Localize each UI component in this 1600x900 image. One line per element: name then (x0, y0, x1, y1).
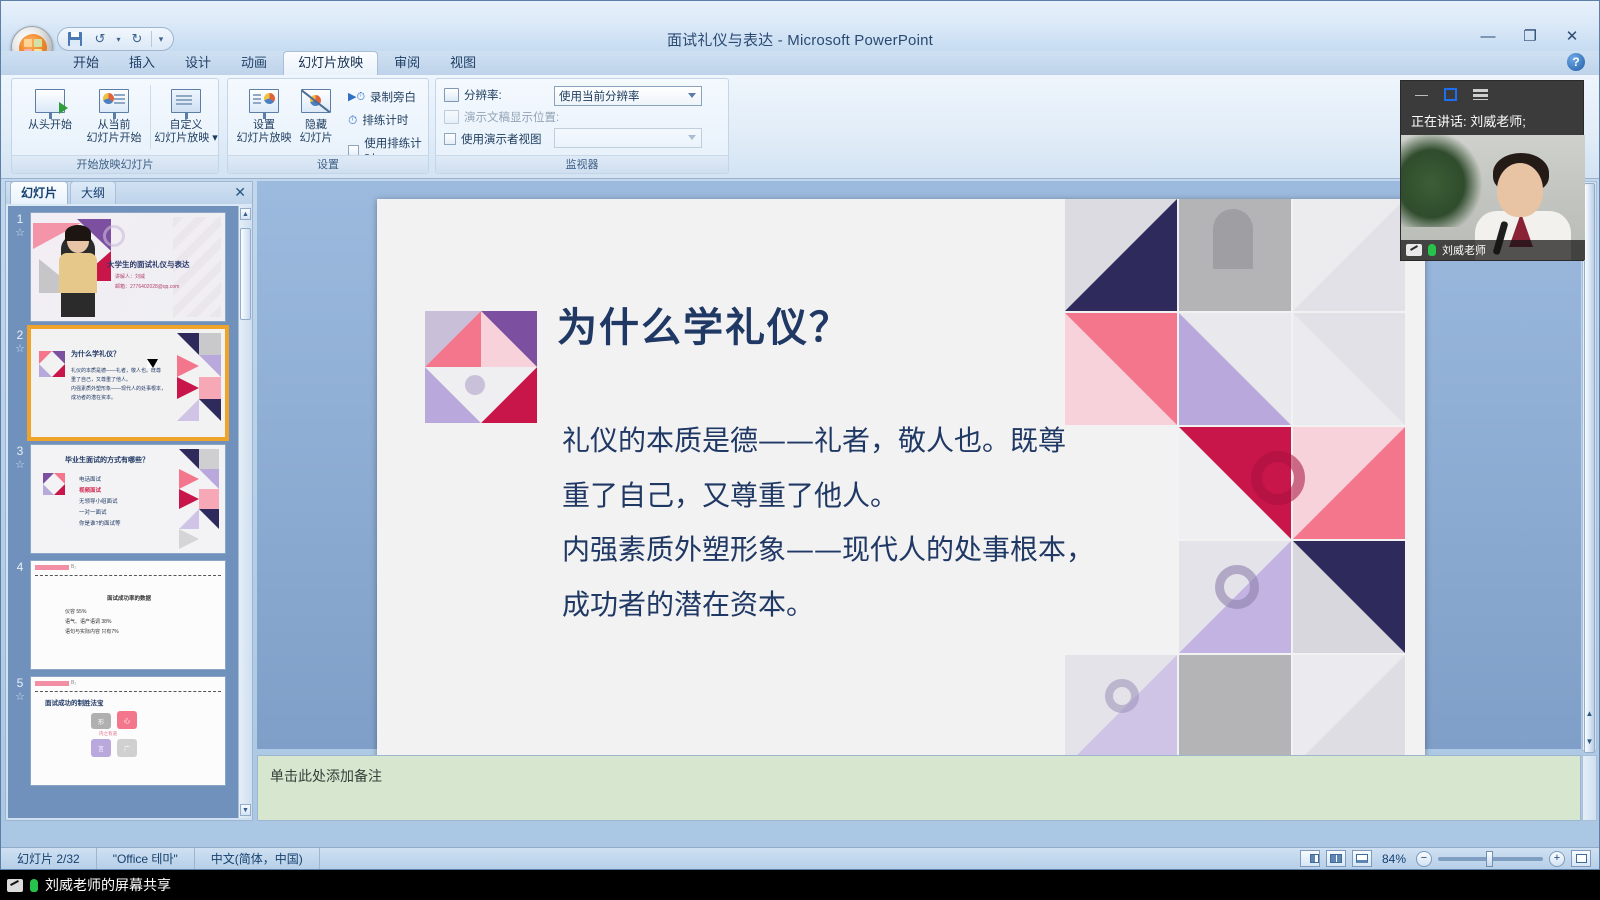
resolution-icon (444, 88, 459, 102)
thumbnail-item[interactable]: 1 ☆ 大学生的面试礼 (8, 206, 238, 322)
display-on-icon (444, 110, 459, 124)
screen-share-taskbar: 刘威老师的屏幕共享 (0, 870, 1600, 900)
resolution-label: 分辨率: (464, 87, 502, 103)
thumb2-line2: 重了自己，又尊重了他人。 (71, 376, 166, 385)
thumbnail-preview[interactable]: 毕业生面试的方式有哪些？ 电话面试 视频面试 无领导小组面试 一对一面试 你是谁… (30, 444, 226, 554)
slide-body-line-1: 礼仪的本质是德——礼者，敬人也。既尊 (562, 414, 1162, 469)
start-from-current-label2: 幻灯片开始 (82, 132, 146, 145)
record-narration-icon: ▶⏱ (348, 90, 365, 104)
thumb3-line1: 电话面试 (79, 475, 121, 486)
animation-star-icon: ☆ (10, 458, 30, 472)
theme-name[interactable]: "Office 테마" (97, 848, 195, 869)
show-presentation-on-label: 演示文稿显示位置: (464, 109, 559, 125)
custom-show-label1: 自定义 (154, 119, 218, 132)
language-indicator[interactable]: 中文(简体，中国) (195, 848, 320, 869)
scrollbar-thumb[interactable] (1584, 183, 1595, 753)
group-divider (150, 85, 151, 149)
start-from-current-icon (82, 83, 146, 119)
plant-decoration (1401, 135, 1483, 227)
notes-pane[interactable]: 单击此处添加备注 (257, 755, 1581, 821)
title-bar: ↺ ▾ ↻ ▾ 面试礼仪与表达 - Microsoft PowerPoint —… (1, 1, 1599, 51)
thumb4-line2: 语气、语产语调 38% (65, 617, 119, 627)
webcam-footer: 刘威老师 (1401, 240, 1585, 260)
slide-body[interactable]: 礼仪的本质是德——礼者，敬人也。既尊 重了自己，又尊重了他人。 内强素质外塑形象… (562, 414, 1162, 632)
thumbnail-item[interactable]: 3 ☆ 毕业生面试的方式有哪些？ 电话面试 视频面试 无领导小组面试 (8, 438, 238, 554)
slide-counter: 幻灯片 2/32 (1, 848, 97, 869)
slide-title[interactable]: 为什么学礼仪？ (557, 295, 851, 353)
webcam-overlay[interactable]: — 正在讲话: 刘威老师; 刘威老师 (1400, 80, 1584, 261)
thumb5-node1: 形 (91, 713, 111, 729)
group-label-setup: 设置 (228, 155, 428, 173)
resolution-dropdown[interactable]: 使用当前分辨率 (554, 86, 702, 106)
thumbnail-number: 3 ☆ (10, 444, 30, 472)
thumb4-title: 面试成功率的数据 (107, 594, 151, 602)
record-narration-item[interactable]: ▶⏱ 录制旁白 (348, 89, 416, 105)
screen-share-label: 刘威老师的屏幕共享 (45, 875, 171, 895)
thumbnail-preview[interactable]: 为什么学礼仪？ 礼仪的本质是德——礼者，敬人也。既尊 重了自己，又尊重了他人。 … (30, 328, 226, 438)
slide-body-line-3: 内强素质外塑形象——现代人的处事根本， (562, 523, 1162, 578)
notes-scrollbar[interactable] (1582, 755, 1597, 821)
ribbon-group-setup: 设置 幻灯片放映 隐藏 幻灯片 ▶⏱ 录制旁白 ⏱ 排练计时 使用排练计时 (227, 78, 429, 174)
thumb-number-text: 5 (17, 676, 24, 690)
rehearse-timings-label: 排练计时 (362, 112, 408, 128)
work-area: 幻灯片 大纲 ✕ 1 ☆ (1, 179, 1599, 847)
group-label-monitors: 监视器 (436, 155, 728, 173)
thumb5-node4: 广 (117, 739, 137, 757)
person-icon (465, 375, 485, 395)
animation-star-icon: ☆ (10, 226, 30, 240)
thumb3-line5: 你是谁?的面试等 (79, 519, 121, 530)
custom-show-label2: 幻灯片放映 ▾ (154, 132, 218, 145)
ribbon: 从头开始 从当前 幻灯片开始 自定义 幻灯片放映 ▾ 开始放映幻灯片 (1, 75, 1599, 179)
speaking-status: 正在讲话: 刘威老师; (1401, 107, 1583, 137)
restore-button[interactable]: ❐ (1515, 25, 1545, 47)
status-bar: 幻灯片 2/32 "Office 테마" 中文(简体，中国) 84% − + (1, 847, 1599, 869)
minimize-button[interactable]: — (1473, 25, 1503, 47)
thumb1-sub2: 邮箱：2776402028@qq.com (115, 283, 179, 290)
screen-share-icon[interactable] (1406, 244, 1422, 256)
thumb2-lines: 礼仪的本质是德——礼者，敬人也。既尊 重了自己，又尊重了他人。 内强素质外塑形象… (71, 367, 166, 403)
slide-body-line-2: 重了自己，又尊重了他人。 (562, 469, 1162, 524)
zoom-in-button[interactable]: + (1549, 851, 1565, 867)
zoom-out-button[interactable]: − (1416, 851, 1432, 867)
tab-slideshow[interactable]: 幻灯片放映 (283, 51, 378, 75)
hide-slide-button[interactable]: 隐藏 幻灯片 (284, 83, 348, 145)
start-from-current-label1: 从当前 (82, 119, 146, 132)
thumb-number-text: 1 (17, 212, 24, 226)
thumb5-node3: 言 (91, 739, 111, 757)
thumbnail-list[interactable]: 1 ☆ 大学生的面试礼 (8, 206, 238, 818)
thumb5-node2: 心 (117, 711, 137, 729)
slide-canvas[interactable]: 为什么学礼仪？ 礼仪的本质是德——礼者，敬人也。既尊 重了自己，又尊重了他人。 … (377, 199, 1425, 784)
chevron-down-icon (688, 135, 696, 140)
thumbnail-item[interactable]: 4 B₂ 面试成功率的数据 仪容 55% 语气、语产语调 38% 语句与实际内容… (8, 554, 238, 670)
scroll-up-icon[interactable]: ▲ (240, 208, 251, 220)
animation-star-icon: ☆ (10, 342, 30, 356)
powerpoint-window: ↺ ▾ ↻ ▾ 面试礼仪与表达 - Microsoft PowerPoint —… (0, 0, 1600, 870)
start-from-beginning-label: 从头开始 (18, 119, 82, 132)
scroll-down-icon[interactable]: ▼ (240, 804, 251, 816)
thumb1-sub1: 讲解人：刘威 (115, 273, 145, 280)
start-from-beginning-icon (18, 83, 82, 119)
presenter-view-row[interactable]: 使用演示者视图 (444, 131, 542, 147)
thumbnail-number: 1 ☆ (10, 212, 30, 240)
rehearse-timings-icon: ⏱ (348, 113, 357, 128)
mouse-cursor-icon (147, 359, 158, 368)
thumb5-center: 内之有道 (99, 731, 117, 737)
chevron-down-icon (688, 93, 696, 98)
thumbnail-number: 5 ☆ (10, 676, 30, 704)
thumbnail-preview[interactable]: 大学生的面试礼仪与表达 讲解人：刘威 邮箱：2776402028@qq.com (30, 212, 226, 322)
rehearse-timings-item[interactable]: ⏱ 排练计时 (348, 112, 408, 128)
thumb4-line1: 仪容 55% (65, 607, 119, 617)
microphone-icon[interactable] (30, 879, 38, 892)
close-button[interactable]: ✕ (1557, 25, 1587, 47)
person-head (1497, 163, 1543, 217)
resolution-value: 使用当前分辨率 (559, 88, 640, 104)
slide-editing-region: 为什么学礼仪？ 礼仪的本质是德——礼者，敬人也。既尊 重了自己，又尊重了他人。 … (257, 181, 1581, 749)
webcam-toolbar: — (1401, 81, 1583, 107)
slides-outline-pane: 幻灯片 大纲 ✕ 1 ☆ (5, 181, 253, 821)
ribbon-group-monitors: 分辨率: 使用当前分辨率 演示文稿显示位置: 使用演示者视图 监视器 (435, 78, 729, 174)
checkbox-icon[interactable] (444, 133, 456, 145)
tab-design[interactable]: 设计 (171, 52, 225, 75)
thumb1-title: 大学生的面试礼仪与表达 (107, 259, 190, 270)
animation-star-icon: ☆ (10, 690, 30, 704)
thumb2-line4: 成功者的潜在资本。 (71, 394, 166, 403)
help-icon[interactable]: ? (1567, 53, 1585, 71)
normal-view-button[interactable] (1300, 850, 1320, 867)
start-from-beginning-button[interactable]: 从头开始 (18, 83, 82, 132)
tab-view[interactable]: 视图 (436, 52, 490, 75)
window-title: 面试礼仪与表达 - Microsoft PowerPoint (1, 29, 1599, 50)
thumb4-lines: 仪容 55% 语气、语产语调 38% 语句与实际内容 只有7% (65, 607, 119, 637)
thumb3-line3: 无领导小组面试 (79, 497, 121, 508)
thumb-number-text: 3 (17, 444, 24, 458)
slide-sorter-button[interactable] (1326, 850, 1346, 867)
tab-home[interactable]: 开始 (59, 52, 113, 75)
menu-icon[interactable] (1473, 89, 1488, 100)
ribbon-group-start-show: 从头开始 从当前 幻灯片开始 自定义 幻灯片放映 ▾ 开始放映幻灯片 (11, 78, 219, 174)
zoom-slider[interactable] (1438, 857, 1543, 861)
pane-tab-strip: 幻灯片 大纲 ✕ (6, 182, 252, 204)
zoom-slider-handle[interactable] (1486, 851, 1493, 867)
fullscreen-icon[interactable] (1444, 88, 1457, 101)
slide-show-button[interactable] (1352, 850, 1372, 867)
next-slide-icon[interactable]: ▼ (1584, 734, 1595, 748)
thumbnail-scrollbar[interactable]: ▲ ▼ (238, 206, 252, 818)
participant-name: 刘威老师 (1442, 242, 1486, 258)
thumb2-line1: 礼仪的本质是德——礼者，敬人也。既尊 (71, 367, 166, 376)
tab-review[interactable]: 审阅 (380, 52, 434, 75)
window-controls: — ❐ ✕ (1473, 25, 1587, 47)
thumbnail-item[interactable]: 2 ☆ 为什么学礼仪？ 礼仪的本质是德——礼者，敬人也。既尊 重了自己，又尊重了… (8, 322, 238, 438)
thumb3-lines: 电话面试 视频面试 无领导小组面试 一对一面试 你是谁?的面试等 (79, 475, 121, 530)
tab-outline[interactable]: 大纲 (70, 181, 116, 204)
hide-slide-label2: 幻灯片 (284, 132, 348, 145)
zoom-level-label[interactable]: 84% (1378, 852, 1410, 866)
hide-slide-icon (284, 83, 348, 119)
scrollbar-thumb[interactable] (240, 228, 251, 320)
presenter-view-label: 使用演示者视图 (461, 131, 542, 147)
thumbnail-number: 2 ☆ (10, 328, 30, 356)
thumbnail-preview[interactable]: B₂ 面试成功率的数据 仪容 55% 语气、语产语调 38% 语句与实际内容 只… (30, 560, 226, 670)
pinwheel-decoration (425, 311, 537, 423)
ribbon-tab-strip: 开始 插入 设计 动画 幻灯片放映 审阅 视图 ? (1, 51, 1599, 75)
thumbnail-preview[interactable]: B₂ 面试成功的制胜法宝 形 心 言 广 内之有道 (30, 676, 226, 786)
record-narration-label: 录制旁白 (370, 89, 416, 105)
thumb5-title: 面试成功的制胜法宝 (45, 697, 104, 707)
tab-animations[interactable]: 动画 (227, 52, 281, 75)
show-presentation-on-row: 演示文稿显示位置: (444, 109, 559, 125)
screen-share-icon[interactable] (7, 879, 23, 892)
webcam-video[interactable]: 刘威老师 (1401, 135, 1585, 260)
custom-slideshow-button[interactable]: 自定义 幻灯片放映 ▾ (154, 83, 218, 145)
status-right-group: 84% − + (1300, 850, 1599, 867)
thumb3-line4: 一对一面试 (79, 508, 121, 519)
thumbnail-number: 4 (10, 560, 30, 574)
close-pane-button[interactable]: ✕ (234, 184, 246, 201)
thumb3-title: 毕业生面试的方式有哪些？ (65, 455, 149, 465)
thumbnail-item[interactable]: 5 ☆ B₂ 面试成功的制胜法宝 形 心 言 广 内之有道 (8, 670, 238, 786)
tab-slides[interactable]: 幻灯片 (10, 181, 68, 204)
show-presentation-on-dropdown[interactable] (554, 128, 702, 148)
thumb3-line2: 视频面试 (79, 486, 121, 497)
tab-insert[interactable]: 插入 (115, 52, 169, 75)
thumb2-title: 为什么学礼仪？ (71, 349, 120, 359)
group-label-start-show: 开始放映幻灯片 (12, 155, 218, 173)
slide-body-line-4: 成功者的潜在资本。 (562, 578, 1162, 633)
thumb2-line3: 内强素质外塑形象——现代人的处事根本， (71, 385, 166, 394)
slide-vertical-scrollbar[interactable]: ▲ ▼ (1582, 181, 1597, 751)
custom-show-icon (154, 83, 218, 119)
previous-slide-icon[interactable]: ▲ (1584, 706, 1595, 720)
resolution-row: 分辨率: (444, 87, 502, 103)
thumb4-line3: 语句与实际内容 只有7% (65, 627, 119, 637)
minimize-icon[interactable]: — (1415, 88, 1428, 101)
microphone-icon[interactable] (1428, 244, 1436, 256)
fit-slide-to-window-button[interactable] (1571, 850, 1591, 867)
thumb-number-text: 2 (17, 328, 24, 342)
start-from-current-button[interactable]: 从当前 幻灯片开始 (82, 83, 146, 145)
hide-slide-label1: 隐藏 (284, 119, 348, 132)
thumb-number-text: 4 (17, 560, 24, 574)
